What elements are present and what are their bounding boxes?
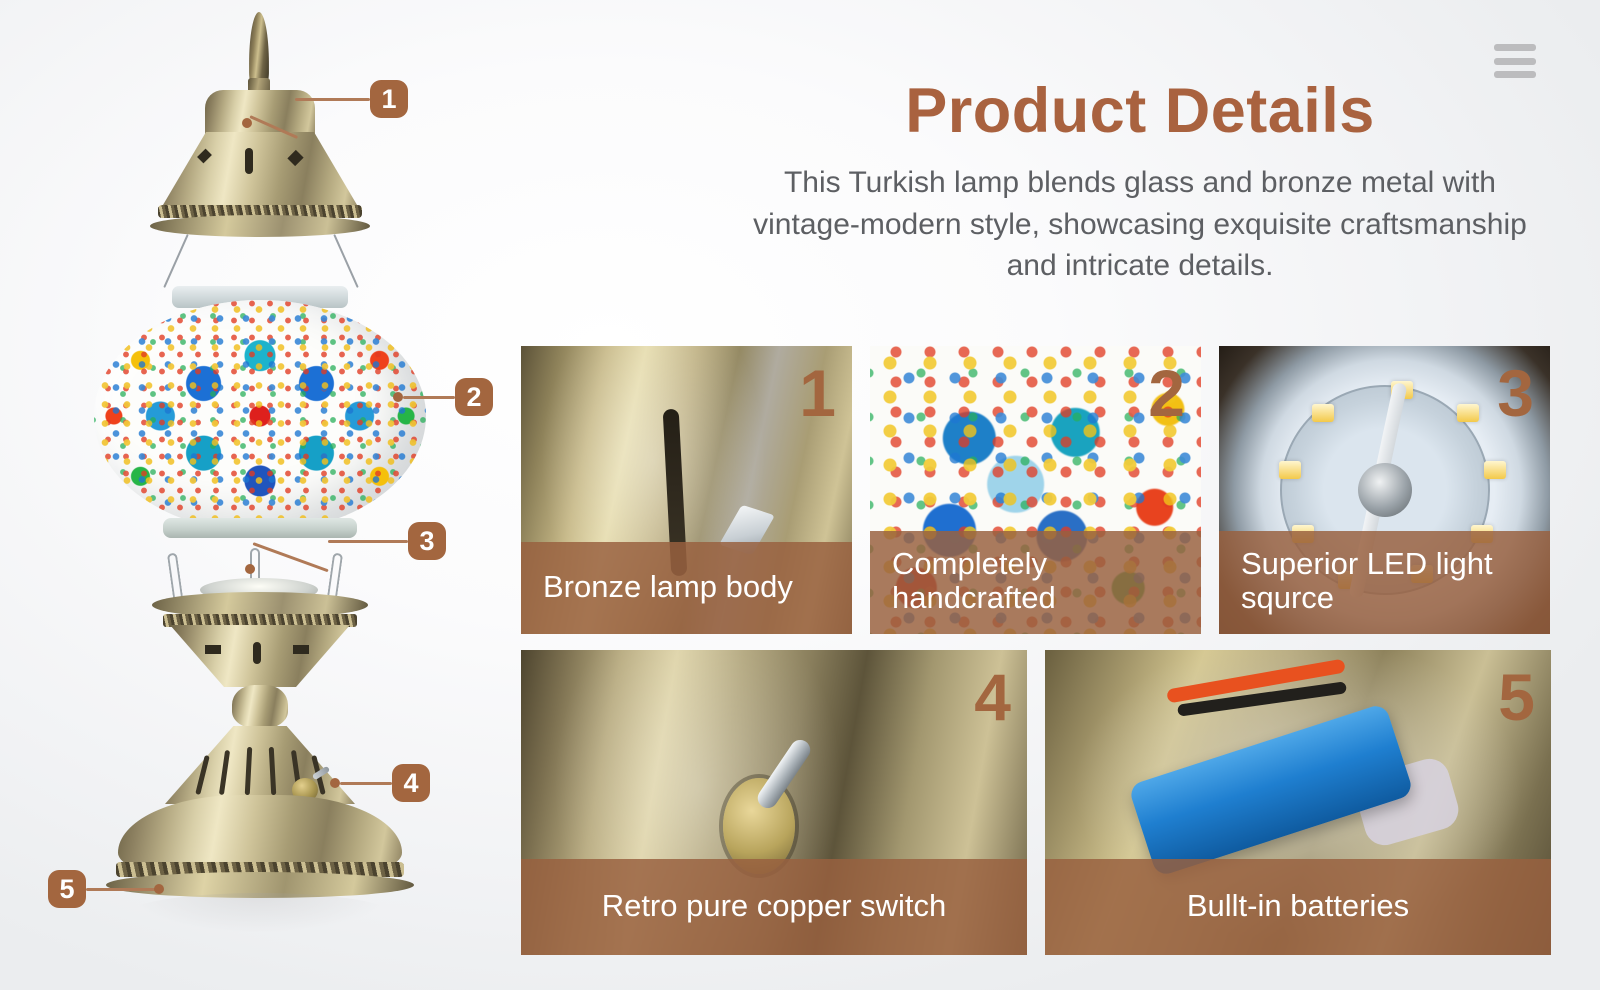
- feature-card-grid: 1 Bronze lamp body 2 Completely handcraf…: [521, 346, 1551, 955]
- callout-2-badge: 2: [455, 378, 493, 416]
- callout-1-leader: [295, 98, 370, 101]
- feature-card-1[interactable]: 1 Bronze lamp body: [521, 346, 852, 634]
- lamp-finial: [249, 12, 269, 86]
- lamp-base-cone: [165, 726, 355, 804]
- feature-card-5[interactable]: 5 Bullt-in batteries: [1045, 650, 1551, 955]
- callout-3-badge: 3: [408, 522, 446, 560]
- callout-2-anchor-dot: [393, 392, 403, 402]
- feature-card-3[interactable]: 3 Superior LED light squrce: [1219, 346, 1550, 634]
- led-center-hub: [1358, 463, 1412, 517]
- page-title: Product Details: [700, 78, 1580, 144]
- callout-2-leader: [403, 396, 455, 399]
- lamp-cap-cone: [160, 132, 360, 210]
- burner-vent-3: [293, 645, 309, 654]
- mosaic-glass-globe: [94, 300, 426, 532]
- callout-1[interactable]: 1: [370, 80, 408, 118]
- battery-cell: [1128, 702, 1414, 877]
- feature-card-2-number: 2: [1148, 360, 1185, 426]
- globe-clip-left: [167, 553, 183, 600]
- glass-globe-base: [163, 518, 357, 538]
- callout-5-leader: [86, 888, 158, 891]
- feature-row-bottom: 4 Retro pure copper switch 5 Bullt-in ba…: [521, 650, 1551, 955]
- callout-4[interactable]: 4: [392, 764, 430, 802]
- cap-ring: [150, 215, 370, 237]
- page-description: This Turkish lamp blends glass and bronz…: [700, 162, 1580, 286]
- callout-5-badge: 5: [48, 870, 86, 908]
- feature-card-3-number: 3: [1497, 360, 1534, 426]
- cap-wire-left: [163, 234, 188, 288]
- callout-2[interactable]: 2: [455, 378, 493, 416]
- burner-vent-2: [253, 642, 261, 664]
- menu-bar-1: [1494, 44, 1536, 51]
- lamp-stem: [232, 685, 288, 729]
- feature-card-4[interactable]: 4 Retro pure copper switch: [521, 650, 1027, 955]
- menu-bar-3: [1494, 71, 1536, 78]
- callout-3-leader: [328, 540, 408, 543]
- cap-wire-right: [333, 234, 358, 288]
- header-block: Product Details This Turkish lamp blends…: [700, 78, 1580, 286]
- lamp-base-dome: [118, 795, 402, 871]
- lamp-reflection: [130, 893, 390, 933]
- callout-5[interactable]: 5: [48, 870, 86, 908]
- feature-card-1-number: 1: [799, 360, 836, 426]
- callout-3[interactable]: 3: [408, 522, 446, 560]
- feature-card-3-label: Superior LED light squrce: [1219, 531, 1550, 634]
- feature-card-5-label: Bullt-in batteries: [1045, 859, 1551, 955]
- feature-row-top: 1 Bronze lamp body 2 Completely handcraf…: [521, 346, 1551, 634]
- callout-4-anchor-dot: [330, 778, 340, 788]
- callout-1-badge: 1: [370, 80, 408, 118]
- callout-4-leader: [340, 782, 392, 785]
- feature-card-4-label: Retro pure copper switch: [521, 859, 1027, 955]
- feature-card-4-number: 4: [974, 664, 1011, 730]
- callout-3-anchor-dot: [245, 564, 255, 574]
- feature-card-2-label: Completely handcrafted: [870, 531, 1201, 634]
- burner-vent-1: [205, 645, 221, 654]
- callout-4-badge: 4: [392, 764, 430, 802]
- feature-card-1-label: Bronze lamp body: [521, 542, 852, 634]
- led-chip-9: [1312, 404, 1334, 422]
- led-chip-8: [1279, 461, 1301, 479]
- exploded-lamp-diagram: 1 2 3 4 5: [0, 0, 500, 990]
- callout-3-leader-diagonal: [252, 542, 328, 572]
- hamburger-menu-icon[interactable]: [1494, 44, 1536, 78]
- led-chip-2: [1457, 404, 1479, 422]
- led-chip-3: [1484, 461, 1506, 479]
- feature-card-5-number: 5: [1498, 664, 1535, 730]
- callout-1-anchor-dot: [242, 118, 252, 128]
- feature-card-2[interactable]: 2 Completely handcrafted: [870, 346, 1201, 634]
- cap-vent-2: [245, 148, 253, 174]
- callout-5-anchor-dot: [154, 884, 164, 894]
- globe-clip-right: [327, 553, 343, 600]
- menu-bar-2: [1494, 58, 1536, 65]
